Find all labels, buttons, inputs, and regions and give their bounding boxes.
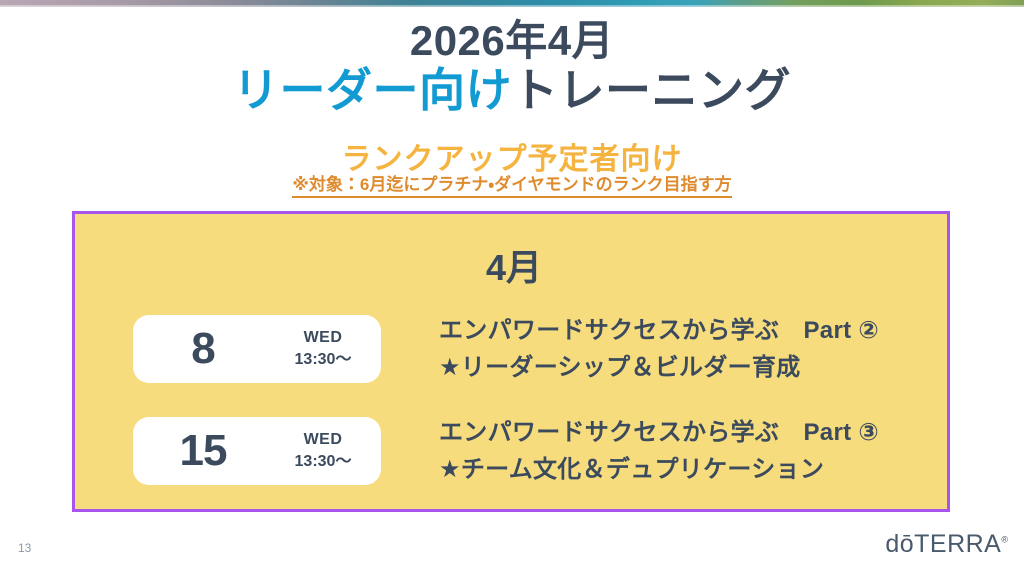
title-block: 2026年4月 リーダー向けトレーニング <box>0 18 1024 117</box>
schedule-rows: 8 WED 13:30〜 エンパワードサクセスから学ぶ Part ② ★リーダー… <box>75 298 953 502</box>
date-time: 13:30〜 <box>273 349 373 371</box>
title-rest-text: トレーニング <box>512 64 791 116</box>
date-day: 8 <box>133 327 273 371</box>
eligibility-note-text: ※対象：6月迄にプラチナ・ダイヤモンドのランク目指す方 <box>292 170 731 198</box>
date-day: 15 <box>133 429 273 473</box>
page-number: 13 <box>18 541 31 555</box>
eligibility-note: ※対象：6月迄にプラチナ・ダイヤモンドのランク目指す方 <box>0 170 1024 198</box>
session-subtitle: ★チーム文化＆デュプリケーション <box>439 451 879 488</box>
session-details: エンパワードサクセスから学ぶ Part ② ★リーダーシップ＆ビルダー育成 <box>439 312 879 386</box>
schedule-panel: 4月 8 WED 13:30〜 エンパワードサクセスから学ぶ Part ② ★リ… <box>72 211 950 512</box>
slide: 2026年4月 リーダー向けトレーニング ランクアップ予定者向け ※対象：6月迄… <box>0 0 1024 573</box>
date-card: 15 WED 13:30〜 <box>133 417 381 485</box>
session-details: エンパワードサクセスから学ぶ Part ③ ★チーム文化＆デュプリケーション <box>439 414 879 488</box>
session-title: エンパワードサクセスから学ぶ Part ③ <box>439 414 879 451</box>
top-image-sliver-fade <box>0 5 1024 11</box>
date-day-of-week: WED <box>273 429 373 451</box>
date-time: 13:30〜 <box>273 451 373 473</box>
title-line-1: 2026年4月 <box>0 18 1024 63</box>
session-subtitle: ★リーダーシップ＆ビルダー育成 <box>439 349 879 386</box>
date-meta: WED 13:30〜 <box>273 327 373 370</box>
date-meta: WED 13:30〜 <box>273 429 373 472</box>
month-heading: 4月 <box>75 239 953 291</box>
schedule-row: 8 WED 13:30〜 エンパワードサクセスから学ぶ Part ② ★リーダー… <box>75 298 953 400</box>
doterra-logo-text: dōTERRA <box>885 530 1001 558</box>
date-card: 8 WED 13:30〜 <box>133 315 381 383</box>
session-title: エンパワードサクセスから学ぶ Part ② <box>439 312 879 349</box>
title-line-2: リーダー向けトレーニング <box>0 65 1024 117</box>
title-accent-text: リーダー向け <box>233 64 512 116</box>
schedule-row: 15 WED 13:30〜 エンパワードサクセスから学ぶ Part ③ ★チーム… <box>75 400 953 502</box>
doterra-logo: dōTERRA® <box>885 530 1008 559</box>
trademark-mark: ® <box>1001 535 1008 545</box>
date-day-of-week: WED <box>273 327 373 349</box>
